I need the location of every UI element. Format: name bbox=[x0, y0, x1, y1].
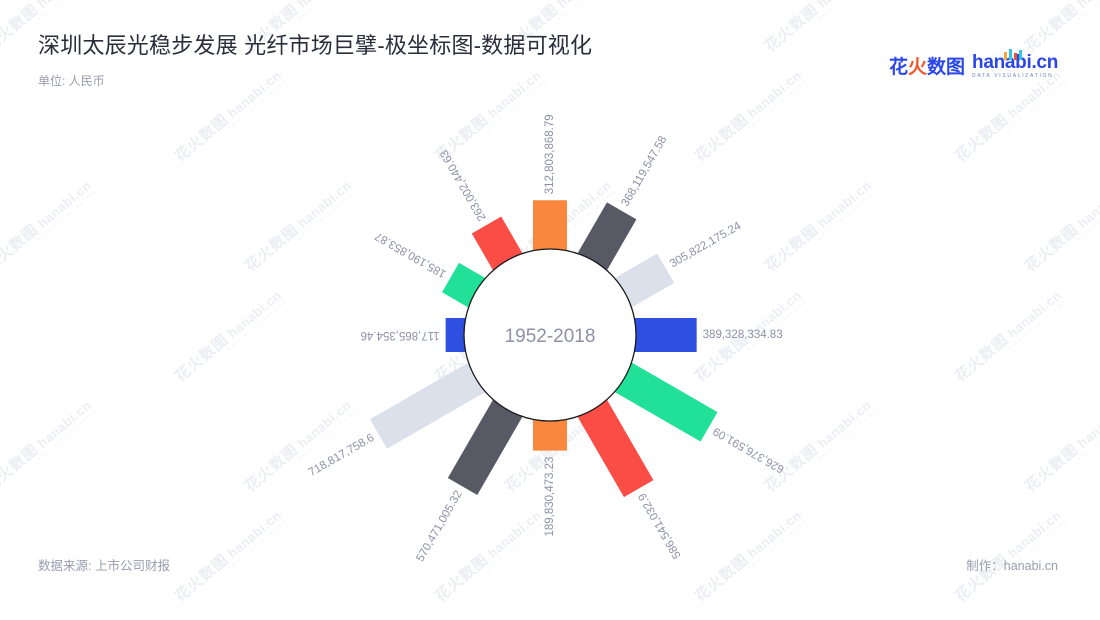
bar-value-label: 718,817,758.6 bbox=[307, 432, 377, 479]
bar-value-label: 389,328,334.83 bbox=[703, 329, 783, 341]
bar-value-label: 189,830,473.23 bbox=[544, 457, 556, 537]
bar-value-label: 312,803,868.79 bbox=[544, 114, 556, 194]
polar-bar[interactable] bbox=[448, 400, 522, 495]
data-source-text: 数据来源: 上市公司财报 bbox=[38, 555, 170, 574]
bar-value-label: 586,541,032.9 bbox=[637, 491, 684, 561]
polar-bar[interactable] bbox=[370, 363, 485, 449]
bar-value-label: 626,376,591.09 bbox=[711, 425, 786, 475]
bar-value-label: 570,471,005.32 bbox=[414, 489, 464, 564]
unit-label: 单位: 人民币 bbox=[38, 73, 118, 90]
bar-value-label: 185,190,853.87 bbox=[373, 229, 448, 279]
bar-value-label: 305,822,175.24 bbox=[668, 220, 744, 271]
bar-value-label: 368,119,547.58 bbox=[620, 134, 670, 208]
header: 深圳太辰光稳步发展 光纤市场巨擘-极坐标图-数据可视化 单位: 人民币 bbox=[38, 32, 592, 90]
brand-logo-char-3: 数图 bbox=[927, 57, 965, 78]
bar-value-label: 263,002,440.63 bbox=[438, 148, 488, 223]
polar-bar[interactable] bbox=[533, 420, 567, 451]
brand-logo-tagline: DATA VISUALIZATION bbox=[972, 74, 1058, 79]
credit-text: 制作：hanabi.cn bbox=[966, 555, 1058, 574]
polar-bar[interactable] bbox=[446, 318, 465, 352]
brand-logo-cn: 花火数图 bbox=[889, 52, 965, 79]
center-label: 1952-2018 bbox=[505, 326, 596, 347]
polar-bar[interactable] bbox=[578, 400, 654, 497]
page-title: 深圳太辰光稳步发展 光纤市场巨擘-极坐标图-数据可视化 bbox=[38, 32, 592, 61]
brand-logo: 花火数图 hanabi.cn DATA VISUALIZATION bbox=[889, 52, 1058, 79]
polar-bar[interactable] bbox=[615, 363, 717, 442]
polar-bar-chart: 1952-2018 312,803,868.79368,119,547.5830… bbox=[0, 0, 1100, 620]
brand-logo-char-2: 火 bbox=[908, 57, 927, 78]
sparkle-icon bbox=[1002, 48, 1028, 60]
brand-logo-char-1: 花 bbox=[889, 57, 908, 78]
bar-value-label: 117,865,354.46 bbox=[361, 329, 440, 341]
polar-bar[interactable] bbox=[635, 318, 697, 352]
polar-bar[interactable] bbox=[533, 200, 567, 250]
